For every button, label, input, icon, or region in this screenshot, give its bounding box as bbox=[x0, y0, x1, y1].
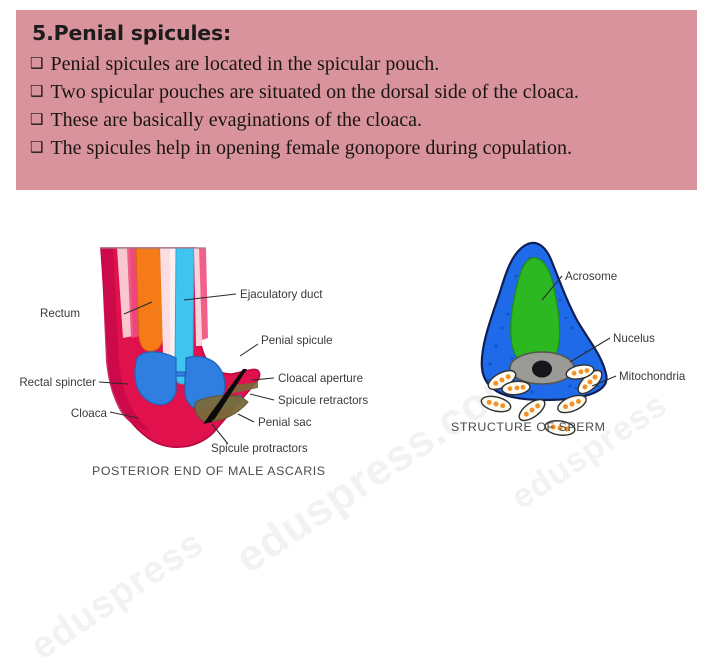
label-spicule-retractors: Spicule retractors bbox=[278, 394, 368, 407]
label-penial-sac: Penial sac bbox=[258, 416, 312, 429]
checkbox-bullet-icon: ❑ bbox=[30, 134, 43, 162]
diagram-posterior-end-male-ascaris: Rectum Rectal spincter Cloaca Ejaculator… bbox=[0, 196, 420, 496]
label-ejaculatory-duct: Ejaculatory duct bbox=[240, 288, 323, 301]
page-title: 5.Penial spicules: bbox=[32, 22, 683, 46]
list-item: ❑ Two spicular pouches are situated on t… bbox=[30, 78, 683, 106]
leader-penial-sac bbox=[238, 414, 254, 422]
list-item: ❑ The spicules help in opening female go… bbox=[30, 134, 683, 162]
slide-canvas: 5.Penial spicules: ❑ Penial spicules are… bbox=[0, 0, 720, 539]
list-item: ❑ These are basically evaginations of th… bbox=[30, 106, 683, 134]
figure-area: eduspress.com eduspress eduspress bbox=[0, 196, 720, 539]
nucleus-core-shape bbox=[532, 361, 552, 378]
list-item: ❑ Penial spicules are located in the spi… bbox=[30, 50, 683, 78]
label-rectal-spincter: Rectal spincter bbox=[19, 376, 96, 389]
leader-penial-spicule bbox=[240, 344, 258, 356]
ascaris-diagram-svg: Rectum Rectal spincter Cloaca Ejaculator… bbox=[0, 196, 420, 496]
bullet-list: ❑ Penial spicules are located in the spi… bbox=[30, 50, 683, 163]
label-cloacal-aperture: Cloacal aperture bbox=[278, 372, 363, 385]
list-item-label: These are basically evaginations of the … bbox=[50, 106, 422, 134]
label-spicule-protractors: Spicule protractors bbox=[211, 442, 308, 455]
checkbox-bullet-icon: ❑ bbox=[30, 78, 43, 106]
checkbox-bullet-icon: ❑ bbox=[30, 50, 43, 78]
list-item-label: Penial spicules are located in the spicu… bbox=[50, 50, 439, 78]
caption-structure-of-sperm: STRUCTURE OF SPERM bbox=[451, 420, 605, 434]
label-mitochondria: Mitochondria bbox=[619, 370, 686, 383]
label-penial-spicule: Penial spicule bbox=[261, 334, 333, 347]
label-cloaca: Cloaca bbox=[71, 407, 108, 420]
label-acrosome: Acrosome bbox=[565, 270, 617, 283]
label-rectum: Rectum bbox=[40, 307, 80, 320]
leader-spicule-protractors bbox=[212, 424, 228, 444]
rectum-shape bbox=[136, 248, 163, 351]
label-nucelus: Nucelus bbox=[613, 332, 655, 345]
content-panel: 5.Penial spicules: ❑ Penial spicules are… bbox=[16, 10, 697, 190]
watermark-text: eduspress bbox=[23, 522, 212, 669]
list-item-label: The spicules help in opening female gono… bbox=[50, 134, 572, 162]
sperm-diagram-svg: Acrosome Nucelus Mitochondria bbox=[420, 196, 720, 496]
caption-posterior-end-male-ascaris: POSTERIOR END OF MALE ASCARIS bbox=[92, 464, 326, 478]
diagram-structure-of-sperm: Acrosome Nucelus Mitochondria bbox=[420, 196, 720, 496]
list-item-label: Two spicular pouches are situated on the… bbox=[50, 78, 578, 106]
leader-spicule-retractors bbox=[250, 394, 274, 400]
checkbox-bullet-icon: ❑ bbox=[30, 106, 43, 134]
